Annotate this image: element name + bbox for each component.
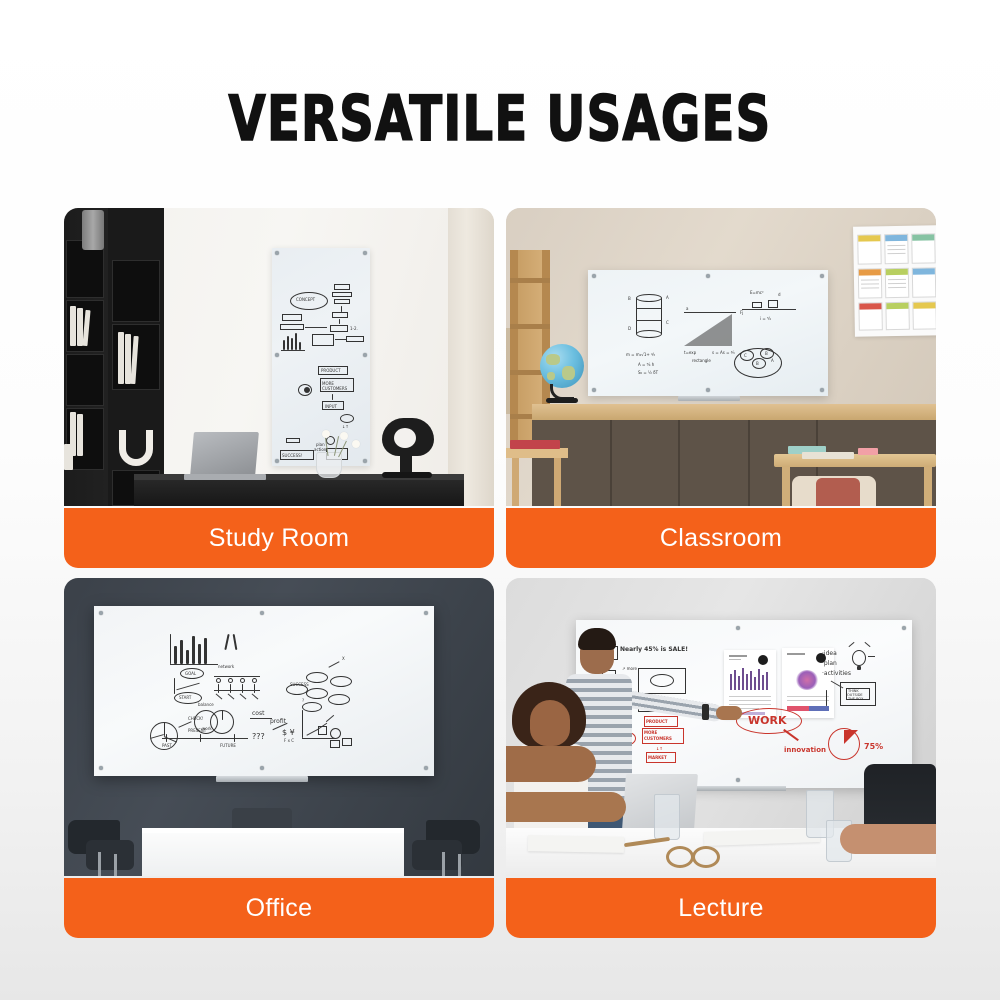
desk-lamp-ring [394, 428, 416, 448]
pinned-chart-paper-right [782, 648, 834, 718]
conference-table [142, 828, 404, 876]
usage-card-classroom[interactable]: B A D C a t=exp s = As = ⁴⁄₃ rectangle F… [506, 208, 936, 568]
student-desk-left [506, 448, 568, 458]
study-room-photo: CONCEPT 1-2. [64, 208, 494, 506]
red-book [510, 440, 560, 449]
laptop-base [184, 474, 266, 480]
eyeglasses-lens-right [692, 846, 720, 868]
marker-tray [686, 786, 786, 791]
usage-label-lecture[interactable]: Lecture [506, 878, 936, 938]
marker-tray [678, 396, 740, 401]
flower [352, 440, 360, 448]
classroom-chair-red [816, 478, 860, 506]
usage-label-text: Study Room [209, 524, 350, 553]
glass-whiteboard: CONCEPT 1-2. [272, 248, 370, 466]
office-photo: GOAL START network [64, 578, 494, 876]
conference-chair-left-2 [86, 840, 134, 870]
glass-whiteboard: B A D C a t=exp s = As = ⁴⁄₃ rectangle F… [588, 270, 828, 396]
eyeglasses-lens-left [666, 846, 694, 868]
lecture-photo: Nearly 45% is SALE! ↗ more It% = 9%! [506, 578, 936, 876]
water-glass [654, 794, 680, 840]
usage-label-study-room[interactable]: Study Room [64, 508, 494, 568]
globe [540, 344, 584, 388]
curtain [448, 208, 494, 506]
conference-table-edge [142, 828, 404, 833]
usage-card-study-room[interactable]: CONCEPT 1-2. [64, 208, 494, 568]
wristwatch [702, 704, 709, 720]
shelf-vase [82, 210, 104, 250]
desk-lamp-base [382, 472, 432, 478]
schedule-poster [853, 225, 936, 336]
attendee-head [530, 700, 570, 746]
foreground-hand [840, 824, 936, 854]
globe-base [546, 398, 578, 403]
glass-whiteboard: GOAL START network [94, 606, 434, 776]
usage-card-lecture[interactable]: Nearly 45% is SALE! ↗ more It% = 9%! [506, 578, 936, 938]
conference-chair-right-2 [412, 840, 462, 870]
page-title: VERSATILE USAGES [70, 88, 930, 150]
foreground-arm [506, 746, 596, 782]
foreground-hand-typing [506, 792, 626, 822]
desk [134, 476, 464, 506]
laptop-screen [190, 432, 259, 476]
counter-top [532, 404, 936, 420]
presenter-pointing-hand [716, 706, 742, 720]
usage-label-text: Office [246, 894, 313, 923]
documents [528, 835, 624, 853]
presenter-hair [578, 628, 616, 650]
classroom-photo: B A D C a t=exp s = As = ⁴⁄₃ rectangle F… [506, 208, 936, 506]
marker-tray [216, 776, 308, 782]
usage-label-office[interactable]: Office [64, 878, 494, 938]
letter-u-decor [119, 430, 153, 466]
usage-card-office[interactable]: GOAL START network [64, 578, 494, 938]
student-desk-right [774, 454, 936, 467]
usage-label-text: Classroom [660, 524, 782, 553]
usage-cards-grid: CONCEPT 1-2. [64, 208, 936, 936]
usage-label-classroom[interactable]: Classroom [506, 508, 936, 568]
flower [322, 430, 330, 438]
usage-label-text: Lecture [678, 894, 764, 923]
flower [340, 432, 348, 440]
